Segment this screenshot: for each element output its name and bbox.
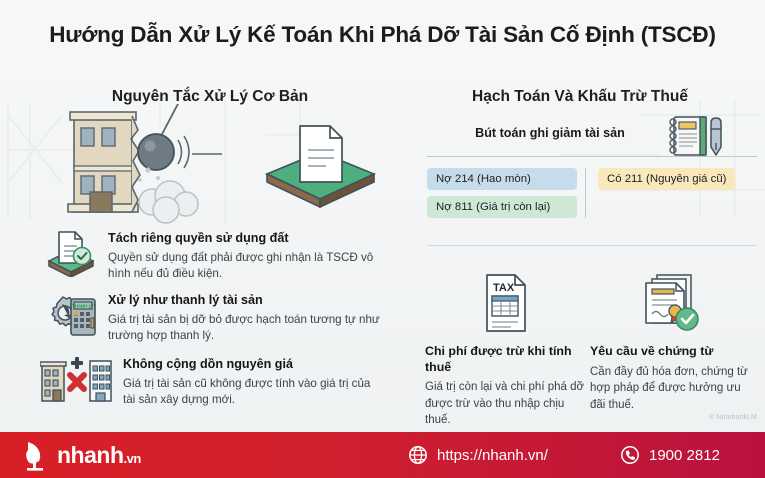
phone-icon [620, 445, 640, 465]
list-item: Không cộng dồn nguyên giá Giá trị tài sả… [40, 355, 385, 409]
info-card: TAX Chi phí được trừ khi tính thuế Giá t… [425, 262, 585, 429]
card-body: Giá trị còn lại và chi phí phá dỡ được t… [425, 379, 585, 429]
list-item-body: Quyền sử dụng đất phải được ghi nhận là … [108, 250, 390, 283]
list-item-heading: Xử lý như thanh lý tài sản [108, 293, 390, 309]
demolition-illustration [52, 104, 382, 224]
footer-bar: nhanh.vn https://nhanh.vn/ 1900 2812 [0, 432, 765, 478]
journal-entry-title: Bút toán ghi giảm tài sản [420, 126, 680, 140]
tax-document-icon: TAX [425, 262, 585, 334]
nhanh-logo-icon [22, 438, 52, 472]
list-item-heading: Tách riêng quyền sử dụng đất [108, 231, 390, 247]
divider-top [427, 156, 757, 157]
certificate-check-icon [590, 262, 750, 334]
notebook-pen-icon [662, 113, 734, 162]
card-heading: Yêu cầu về chứng từ [590, 344, 750, 360]
info-card: Yêu cầu về chứng từ Cần đầy đủ hóa đơn, … [590, 262, 750, 414]
right-column-heading: Hạch Toán Và Khấu Trừ Thuế [400, 88, 760, 106]
credit-pill: Có 211 (Nguyên giá cũ) [598, 168, 735, 190]
journal-entry-pills: Nợ 214 (Hao mòn) Nợ 811 (Giá trị còn lại… [427, 168, 762, 218]
list-item-body: Giá trị tài sản bị dỡ bỏ được hạch toán … [108, 312, 390, 345]
buildings-not-added-icon [40, 355, 112, 408]
list-item: THANH LY Xử lý như thanh lý tài sản Giá … [45, 291, 390, 345]
pill-divider [585, 168, 586, 218]
globe-icon [408, 445, 428, 465]
debit-pill: Nợ 811 (Giá trị còn lại) [427, 196, 577, 218]
gear-calculator-icon: THANH LY [45, 291, 97, 344]
footer-phone[interactable]: 1900 2812 [620, 445, 720, 465]
watermark: © NotebookLM [709, 414, 757, 421]
infographic-page: Hướng Dẫn Xử Lý Kế Toán Khi Phá Dỡ Tài S… [0, 0, 765, 478]
debit-column: Nợ 214 (Hao mòn) Nợ 811 (Giá trị còn lại… [427, 168, 577, 218]
debit-pill: Nợ 214 (Hao mòn) [427, 168, 577, 190]
brand-name: nhanh.vn [57, 442, 141, 469]
card-heading: Chi phí được trừ khi tính thuế [425, 344, 585, 375]
credit-column: Có 211 (Nguyên giá cũ) [598, 168, 735, 218]
document-check-land-icon [45, 229, 97, 282]
svg-text:TAX: TAX [493, 282, 515, 294]
footer-phone-text: 1900 2812 [649, 447, 720, 464]
list-item: Tách riêng quyền sử dụng đất Quyền sử dụ… [45, 229, 390, 283]
svg-text:THANH LY: THANH LY [72, 304, 93, 309]
list-item-heading: Không cộng dồn nguyên giá [123, 357, 385, 373]
list-item-body: Giá trị tài sản cũ không được tính vào g… [123, 376, 385, 409]
card-body: Cần đầy đủ hóa đơn, chứng từ hợp pháp để… [590, 364, 750, 414]
footer-website[interactable]: https://nhanh.vn/ [408, 445, 548, 465]
divider-middle [427, 245, 757, 246]
footer-url-text: https://nhanh.vn/ [437, 447, 548, 464]
brand-logo[interactable]: nhanh.vn [22, 438, 141, 472]
page-title: Hướng Dẫn Xử Lý Kế Toán Khi Phá Dỡ Tài S… [0, 22, 765, 48]
